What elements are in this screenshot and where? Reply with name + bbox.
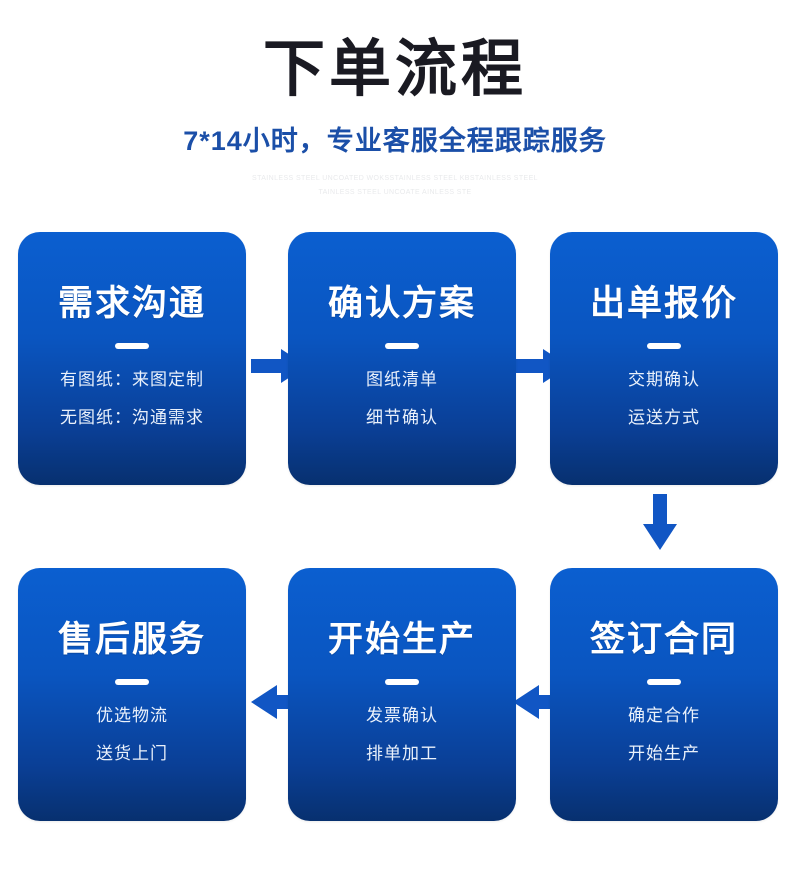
step-detail-line: 交期确认	[628, 371, 700, 388]
step-details: 有图纸：来图定制 无图纸：沟通需求	[60, 371, 204, 426]
arrow-down-icon	[643, 494, 677, 550]
process-step-card-2[interactable]: 确认方案 图纸清单 细节确认	[288, 232, 516, 485]
step-details: 确定合作 开始生产	[628, 707, 700, 762]
step-divider	[385, 343, 419, 349]
step-details: 交期确认 运送方式	[628, 371, 700, 426]
process-step-card-4[interactable]: 签订合同 确定合作 开始生产	[550, 568, 778, 821]
step-divider	[115, 679, 149, 685]
step-divider	[115, 343, 149, 349]
process-step-card-5[interactable]: 开始生产 发票确认 排单加工	[288, 568, 516, 821]
page-title: 下单流程	[0, 38, 790, 101]
step-details: 优选物流 送货上门	[96, 707, 168, 762]
step-divider	[647, 343, 681, 349]
step-title: 签订合同	[590, 622, 738, 657]
step-detail-line: 图纸清单	[366, 371, 438, 388]
english-line-2: TAINLESS STEEL UNCOATE AINLESS STE	[0, 186, 790, 199]
process-flow: 需求沟通 有图纸：来图定制 无图纸：沟通需求 确认方案 图纸清单 细节确认 出单…	[18, 232, 772, 852]
step-details: 发票确认 排单加工	[366, 707, 438, 762]
process-step-card-3[interactable]: 出单报价 交期确认 运送方式	[550, 232, 778, 485]
step-detail-line: 细节确认	[366, 409, 438, 426]
step-detail-line: 排单加工	[366, 745, 438, 762]
step-detail-line: 优选物流	[96, 707, 168, 724]
step-title: 开始生产	[328, 622, 476, 657]
step-divider	[385, 679, 419, 685]
step-title: 售后服务	[58, 622, 206, 657]
step-detail-line: 发票确认	[366, 707, 438, 724]
step-detail-line: 运送方式	[628, 409, 700, 426]
order-process-infographic: 下单流程 7*14小时，专业客服全程跟踪服务 STAINLESS STEEL U…	[0, 0, 790, 875]
step-detail-line: 确定合作	[628, 707, 700, 724]
process-step-card-6[interactable]: 售后服务 优选物流 送货上门	[18, 568, 246, 821]
step-divider	[647, 679, 681, 685]
step-title: 确认方案	[328, 286, 476, 321]
step-title: 出单报价	[590, 286, 738, 321]
step-detail-line: 有图纸：来图定制	[60, 371, 204, 388]
english-line-1: STAINLESS STEEL UNCOATED WOKSSTAINLESS S…	[0, 172, 790, 185]
header: 下单流程 7*14小时，专业客服全程跟踪服务 STAINLESS STEEL U…	[0, 0, 790, 199]
step-detail-line: 送货上门	[96, 745, 168, 762]
step-detail-line: 无图纸：沟通需求	[60, 409, 204, 426]
step-details: 图纸清单 细节确认	[366, 371, 438, 426]
step-title: 需求沟通	[58, 286, 206, 321]
process-step-card-1[interactable]: 需求沟通 有图纸：来图定制 无图纸：沟通需求	[18, 232, 246, 485]
step-detail-line: 开始生产	[628, 745, 700, 762]
page-subtitle: 7*14小时，专业客服全程跟踪服务	[0, 119, 790, 158]
decorative-english-text: STAINLESS STEEL UNCOATED WOKSSTAINLESS S…	[0, 172, 790, 199]
